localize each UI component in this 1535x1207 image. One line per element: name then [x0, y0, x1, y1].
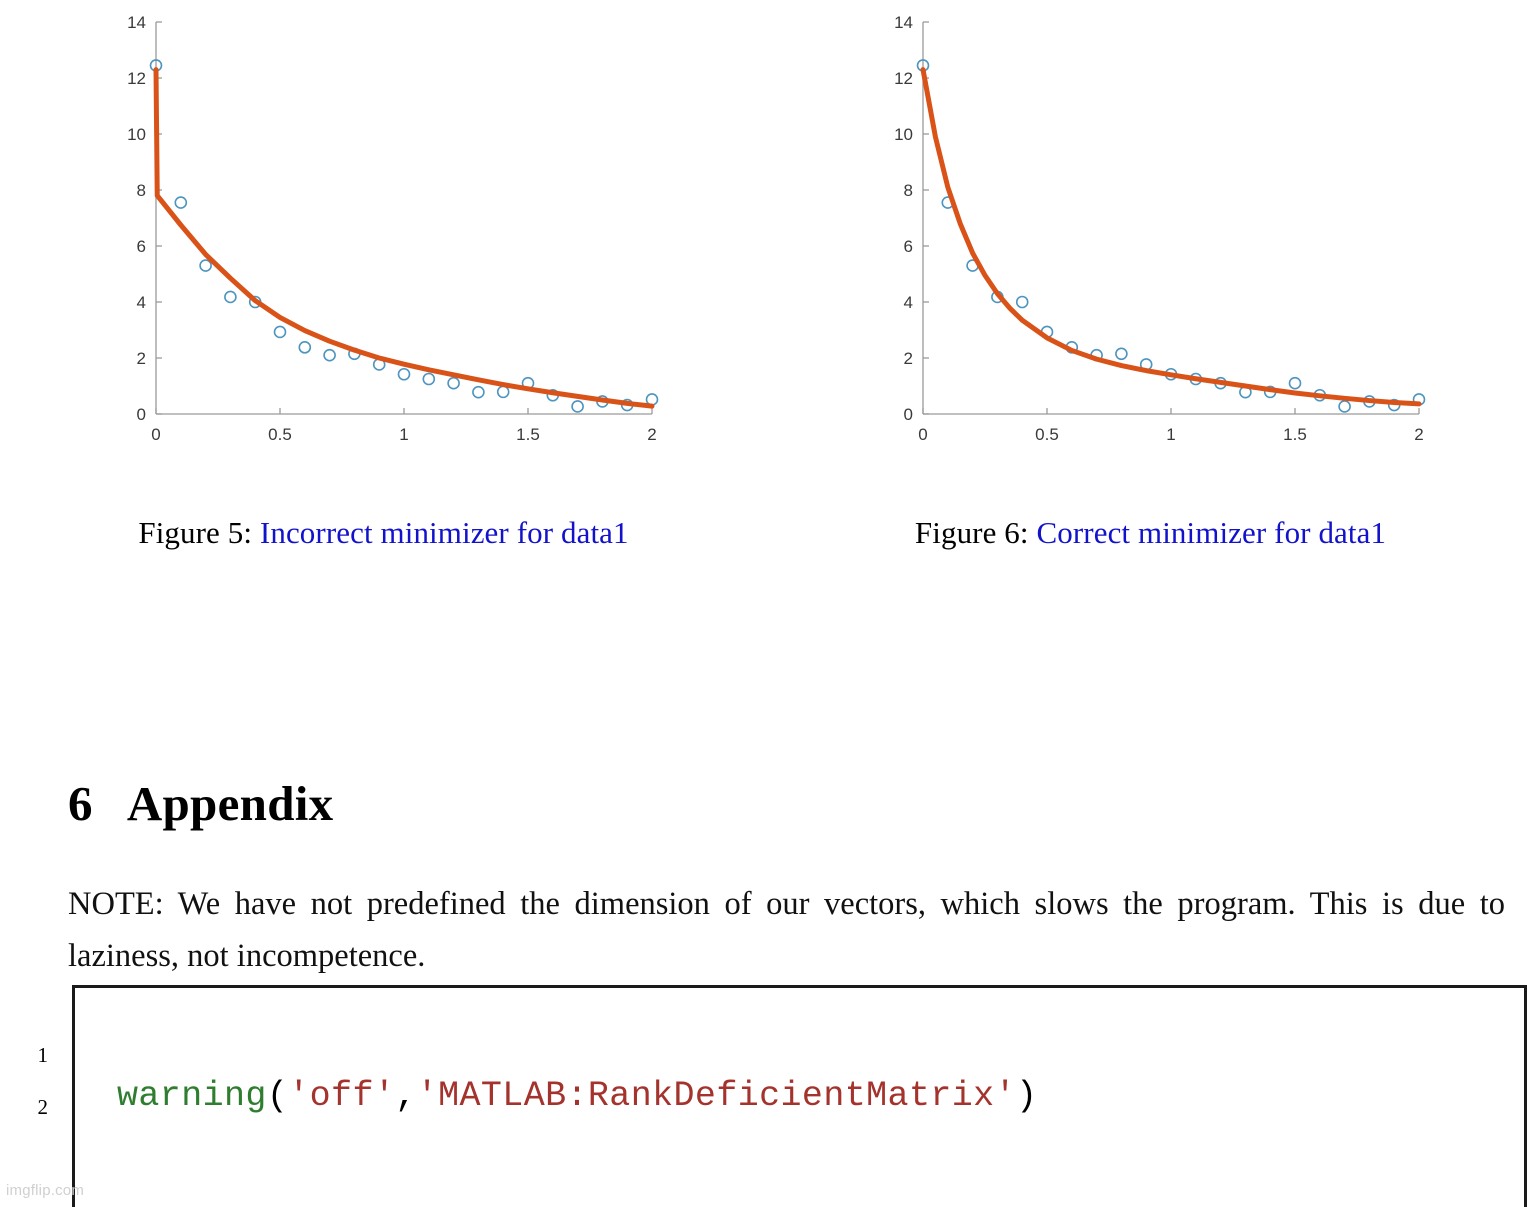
x-tick-label-3: 1.5 — [516, 425, 540, 444]
figure-label-5: Figure 5: — [138, 515, 252, 550]
y-tick-label-2: 4 — [136, 293, 145, 312]
chart-svg-0: 0246810121400.511.52 — [94, 0, 674, 455]
y-tick-label-4: 8 — [136, 181, 145, 200]
data-point-17 — [1339, 401, 1350, 412]
data-point-6 — [299, 342, 310, 353]
section-number: 6 — [68, 776, 93, 831]
y-tick-label-1: 2 — [136, 349, 145, 368]
y-tick-label-4: 8 — [903, 181, 912, 200]
figure-caption-text-6: Correct minimizer for data1 — [1036, 515, 1386, 550]
data-point-10 — [398, 369, 409, 380]
y-tick-label-7: 14 — [894, 13, 913, 32]
series-line-1 — [923, 70, 1419, 404]
chart-svg-1: 0246810121400.511.52 — [861, 0, 1441, 455]
x-tick-label-0: 0 — [151, 425, 160, 444]
x-tick-label-2: 1 — [399, 425, 408, 444]
figure-block-5: 0246810121400.511.52 Figure 5: Incorrect… — [0, 0, 767, 625]
y-tick-label-5: 10 — [127, 125, 146, 144]
series-markers-0 — [150, 60, 657, 412]
chart-incorrect-minimizer: 0246810121400.511.52 — [94, 0, 674, 455]
x-tick-label-1: 0.5 — [268, 425, 292, 444]
x-tick-label-0: 0 — [918, 425, 927, 444]
y-tick-label-1: 2 — [903, 349, 912, 368]
figure-block-6: 0246810121400.511.52 Figure 6: Correct m… — [767, 0, 1534, 625]
data-point-2 — [200, 260, 211, 271]
figure-caption-5: Figure 5: Incorrect minimizer for data1 — [54, 511, 714, 556]
data-point-5 — [274, 326, 285, 337]
x-tick-label-3: 1.5 — [1283, 425, 1307, 444]
code-token-1: ( — [267, 1076, 288, 1116]
x-tick-label-2: 1 — [1166, 425, 1175, 444]
code-token-0: warning — [117, 1076, 267, 1116]
figures-row: 0246810121400.511.52 Figure 5: Incorrect… — [0, 0, 1535, 625]
code-line-numbers: 1 2 — [8, 985, 66, 1207]
code-token-2: 'off' — [288, 1076, 395, 1116]
chart-correct-minimizer: 0246810121400.511.52 — [861, 0, 1441, 455]
note-paragraph: NOTE: We have not predefined the dimensi… — [68, 878, 1505, 983]
figure-caption-6: Figure 6: Correct minimizer for data1 — [821, 511, 1481, 556]
section-heading-appendix: 6Appendix — [68, 775, 333, 832]
figure-caption-text-5: Incorrect minimizer for data1 — [260, 515, 629, 550]
code-listing: 1 2 warning('off','MATLAB:RankDeficientM… — [0, 985, 1535, 1207]
section-title: Appendix — [127, 776, 334, 831]
figure-label-6: Figure 6: — [915, 515, 1029, 550]
data-point-14 — [497, 386, 508, 397]
data-point-13 — [472, 387, 483, 398]
y-tick-label-0: 0 — [136, 405, 145, 424]
code-token-4: 'MATLAB:RankDeficientMatrix' — [417, 1076, 1016, 1116]
y-tick-label-6: 12 — [894, 69, 913, 88]
data-point-15 — [1289, 378, 1300, 389]
data-point-17 — [572, 401, 583, 412]
imgflip-watermark: imgflip.com — [6, 1182, 84, 1199]
x-tick-label-4: 2 — [647, 425, 656, 444]
y-tick-label-3: 6 — [903, 237, 912, 256]
code-line-number-2: 2 — [8, 1095, 48, 1120]
series-markers-0 — [917, 60, 1424, 412]
code-line-number-1: 1 — [8, 1043, 48, 1068]
data-point-1 — [175, 197, 186, 208]
data-point-7 — [324, 350, 335, 361]
y-tick-label-3: 6 — [136, 237, 145, 256]
data-point-4 — [1016, 297, 1027, 308]
code-box: warning('off','MATLAB:RankDeficientMatri… — [72, 985, 1527, 1207]
y-tick-label-7: 14 — [127, 13, 146, 32]
data-point-11 — [423, 374, 434, 385]
code-token-3: , — [395, 1076, 416, 1116]
y-tick-label-6: 12 — [127, 69, 146, 88]
code-line-content[interactable]: warning('off','MATLAB:RankDeficientMatri… — [117, 1076, 1037, 1116]
x-tick-label-4: 2 — [1414, 425, 1423, 444]
y-tick-label-2: 4 — [903, 293, 912, 312]
data-point-12 — [448, 378, 459, 389]
series-line-1 — [156, 70, 652, 407]
data-point-3 — [224, 291, 235, 302]
y-tick-label-5: 10 — [894, 125, 913, 144]
x-tick-label-1: 0.5 — [1035, 425, 1059, 444]
y-tick-label-0: 0 — [903, 405, 912, 424]
code-token-5: ) — [1016, 1076, 1037, 1116]
data-point-8 — [1115, 348, 1126, 359]
